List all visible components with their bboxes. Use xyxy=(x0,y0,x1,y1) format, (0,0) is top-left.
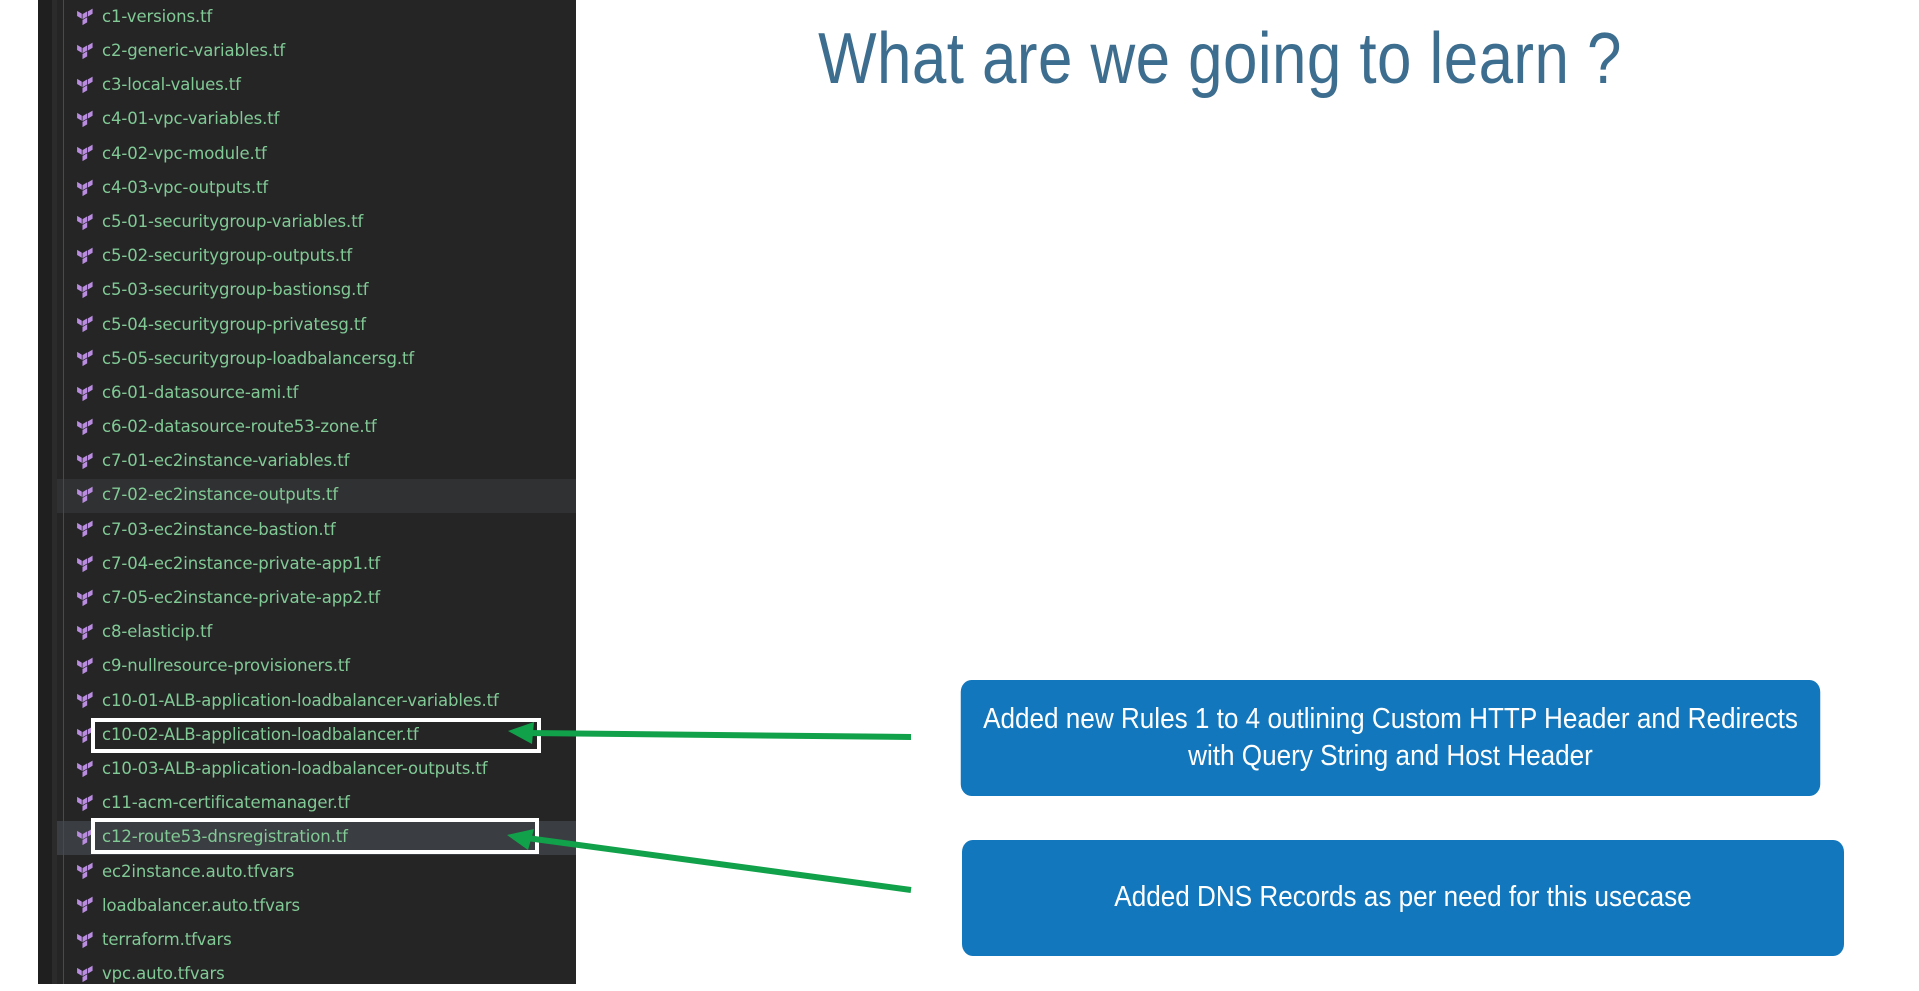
file-tree-item[interactable]: c5-03-securitygroup-bastionsg.tf xyxy=(57,274,576,308)
terraform-icon xyxy=(75,8,94,27)
file-tree-item-label: c7-04-ec2instance-private-app1.tf xyxy=(102,556,380,573)
file-tree-item-label: terraform.tfvars xyxy=(102,932,232,949)
file-tree-item-label: c4-03-vpc-outputs.tf xyxy=(102,180,268,197)
terraform-icon xyxy=(75,828,94,847)
file-tree-item[interactable]: c7-02-ec2instance-outputs.tf xyxy=(57,479,576,513)
file-tree-item[interactable]: c5-02-securitygroup-outputs.tf xyxy=(57,239,576,273)
file-tree-list: c1-versions.tfc2-generic-variables.tfc3-… xyxy=(57,0,576,984)
file-tree-item[interactable]: c10-03-ALB-application-loadbalancer-outp… xyxy=(57,752,576,786)
terraform-icon xyxy=(75,623,94,642)
file-tree-item[interactable]: c2-generic-variables.tf xyxy=(57,34,576,68)
file-tree-item[interactable]: terraform.tfvars xyxy=(57,923,576,957)
terraform-icon xyxy=(75,247,94,266)
file-tree-item[interactable]: c4-02-vpc-module.tf xyxy=(57,137,576,171)
terraform-icon xyxy=(75,315,94,334)
file-tree-item[interactable]: c3-local-values.tf xyxy=(57,68,576,102)
file-tree-item[interactable]: c5-04-securitygroup-privatesg.tf xyxy=(57,308,576,342)
file-tree-item-label: c10-02-ALB-application-loadbalancer.tf xyxy=(102,727,419,744)
terraform-icon xyxy=(75,931,94,950)
file-tree-item-label: c4-01-vpc-variables.tf xyxy=(102,111,279,128)
file-tree-item-label: loadbalancer.auto.tfvars xyxy=(102,898,300,915)
file-tree-item-label: c10-01-ALB-application-loadbalancer-vari… xyxy=(102,693,499,710)
file-tree-item-label: c5-03-securitygroup-bastionsg.tf xyxy=(102,282,368,299)
file-tree-item[interactable]: c10-02-ALB-application-loadbalancer.tf xyxy=(57,718,576,752)
file-tree-item[interactable]: c5-01-securitygroup-variables.tf xyxy=(57,205,576,239)
callout-box-rules: Added new Rules 1 to 4 outlining Custom … xyxy=(961,680,1821,796)
file-tree-item-label: c6-02-datasource-route53-zone.tf xyxy=(102,419,377,436)
file-tree-item-label: c7-05-ec2instance-private-app2.tf xyxy=(102,590,380,607)
file-tree-item-label: c7-02-ec2instance-outputs.tf xyxy=(102,487,338,504)
terraform-icon xyxy=(75,691,94,710)
terraform-icon xyxy=(75,144,94,163)
file-tree-item[interactable]: c7-05-ec2instance-private-app2.tf xyxy=(57,581,576,615)
terraform-icon xyxy=(75,760,94,779)
terraform-icon xyxy=(75,349,94,368)
terraform-icon xyxy=(75,862,94,881)
file-tree-item-label: c1-versions.tf xyxy=(102,9,212,26)
terraform-icon xyxy=(75,384,94,403)
terraform-icon xyxy=(75,452,94,471)
callout-box-dns: Added DNS Records as per need for this u… xyxy=(962,840,1844,956)
callout-dns-text: Added DNS Records as per need for this u… xyxy=(1114,879,1691,916)
terraform-icon xyxy=(75,110,94,129)
terraform-icon xyxy=(75,179,94,198)
file-tree-item[interactable]: c7-04-ec2instance-private-app1.tf xyxy=(57,547,576,581)
file-tree-item[interactable]: c9-nullresource-provisioners.tf xyxy=(57,650,576,684)
terraform-icon xyxy=(75,896,94,915)
file-tree-item[interactable]: c6-02-datasource-route53-zone.tf xyxy=(57,410,576,444)
file-tree-item[interactable]: c4-03-vpc-outputs.tf xyxy=(57,171,576,205)
file-tree-item-label: c7-01-ec2instance-variables.tf xyxy=(102,453,349,470)
terraform-icon xyxy=(75,486,94,505)
file-tree-item[interactable]: c10-01-ALB-application-loadbalancer-vari… xyxy=(57,684,576,718)
file-tree-item-label: ec2instance.auto.tfvars xyxy=(102,864,294,881)
file-tree-item-label: c5-04-securitygroup-privatesg.tf xyxy=(102,317,366,334)
file-tree-item-label: c9-nullresource-provisioners.tf xyxy=(102,658,350,675)
terraform-icon xyxy=(75,418,94,437)
terraform-icon xyxy=(75,520,94,539)
terraform-icon xyxy=(75,42,94,61)
file-tree-item[interactable]: c6-01-datasource-ami.tf xyxy=(57,376,576,410)
terraform-icon xyxy=(75,794,94,813)
file-tree-item[interactable]: c5-05-securitygroup-loadbalancersg.tf xyxy=(57,342,576,376)
terraform-icon xyxy=(75,281,94,300)
terraform-icon xyxy=(75,726,94,745)
file-tree-item-label: c5-01-securitygroup-variables.tf xyxy=(102,214,363,231)
file-tree-item-label: c10-03-ALB-application-loadbalancer-outp… xyxy=(102,761,488,778)
file-tree-item-label: c4-02-vpc-module.tf xyxy=(102,146,267,163)
file-tree-item[interactable]: c8-elasticip.tf xyxy=(57,615,576,649)
file-tree-item[interactable]: c1-versions.tf xyxy=(57,0,576,34)
file-tree-item-label: c11-acm-certificatemanager.tf xyxy=(102,795,350,812)
terraform-icon xyxy=(75,213,94,232)
file-tree-item[interactable]: c7-03-ec2instance-bastion.tf xyxy=(57,513,576,547)
file-tree-item-label: c12-route53-dnsregistration.tf xyxy=(102,829,348,846)
file-tree-item-label: c7-03-ec2instance-bastion.tf xyxy=(102,522,336,539)
file-tree-item-label: c3-local-values.tf xyxy=(102,77,241,94)
explorer-gutter xyxy=(38,0,52,984)
file-tree-item-label: c5-02-securitygroup-outputs.tf xyxy=(102,248,352,265)
terraform-icon xyxy=(75,76,94,95)
file-tree-item[interactable]: c7-01-ec2instance-variables.tf xyxy=(57,444,576,478)
file-tree-item-label: c2-generic-variables.tf xyxy=(102,43,285,60)
terraform-icon xyxy=(75,555,94,574)
file-tree-item[interactable]: c12-route53-dnsregistration.tf xyxy=(57,821,576,855)
file-tree-item[interactable]: c11-acm-certificatemanager.tf xyxy=(57,786,576,820)
terraform-icon xyxy=(75,657,94,676)
file-tree-item-label: c5-05-securitygroup-loadbalancersg.tf xyxy=(102,351,414,368)
terraform-icon xyxy=(75,965,94,984)
file-explorer-panel: c1-versions.tfc2-generic-variables.tfc3-… xyxy=(38,0,576,984)
terraform-icon xyxy=(75,589,94,608)
callout-rules-text: Added new Rules 1 to 4 outlining Custom … xyxy=(981,701,1801,775)
file-tree-item[interactable]: ec2instance.auto.tfvars xyxy=(57,855,576,889)
file-tree-item[interactable]: loadbalancer.auto.tfvars xyxy=(57,889,576,923)
file-tree-item[interactable]: vpc.auto.tfvars xyxy=(57,957,576,984)
file-tree-item-label: c6-01-datasource-ami.tf xyxy=(102,385,298,402)
file-tree-item-label: vpc.auto.tfvars xyxy=(102,966,225,983)
file-tree-item-label: c8-elasticip.tf xyxy=(102,624,212,641)
file-tree-item[interactable]: c4-01-vpc-variables.tf xyxy=(57,103,576,137)
page-title: What are we going to learn ? xyxy=(704,18,1736,101)
